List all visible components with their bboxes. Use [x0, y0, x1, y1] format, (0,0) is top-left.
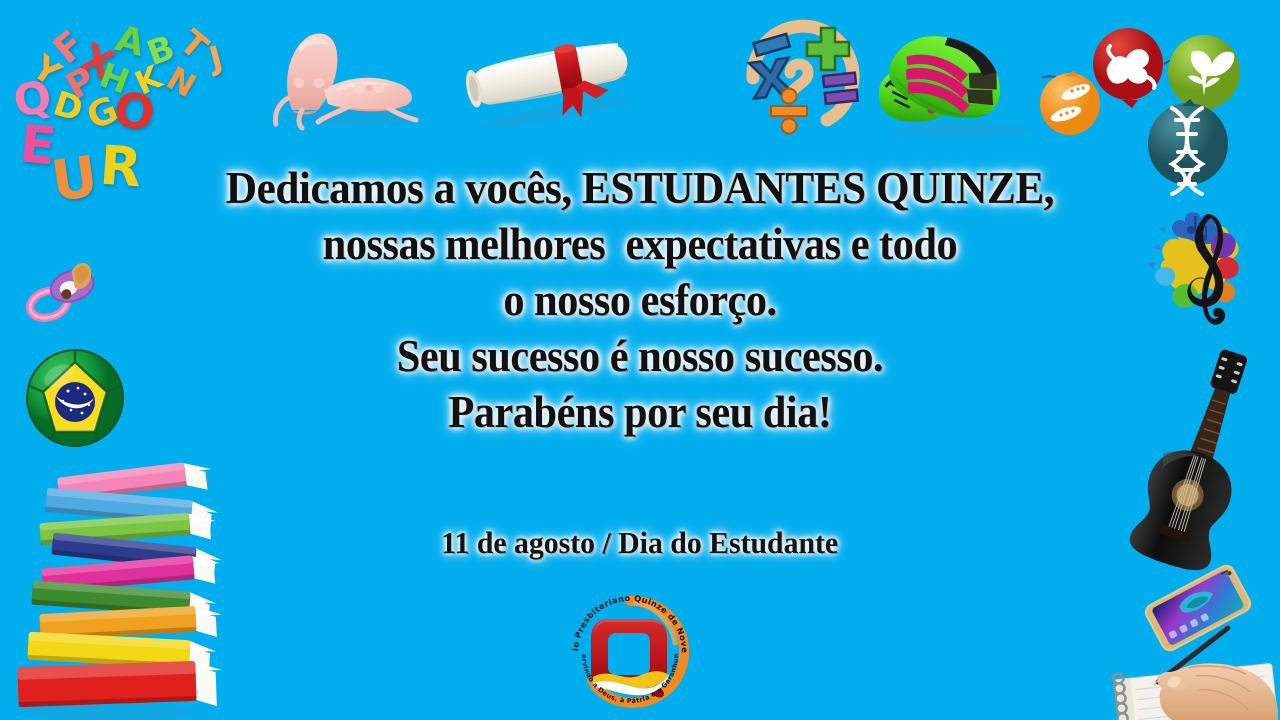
book-stack-icon	[10, 462, 235, 720]
poster-canvas: FXABTJYPHKNQDGOEUR	[0, 0, 1280, 720]
message-line-3: o nosso esforço.	[38, 272, 1241, 328]
message-line-2: nossas melhores expectativas e todo	[38, 216, 1241, 272]
subtitle-container: 11 de agosto / Dia do Estudante	[0, 525, 1280, 561]
student-day-date: 11 de agosto / Dia do Estudante	[442, 525, 839, 561]
alphabet-letter: A	[112, 21, 148, 63]
diploma-scroll-icon	[455, 25, 645, 130]
message-line-5: Parabéns por seu dia!	[38, 384, 1241, 440]
school-logo: Colégio Presbiteriano Quinze de Novembro…	[561, 583, 699, 720]
soccer-cleats-icon	[872, 12, 1052, 142]
writing-hand-notebook-icon	[1110, 618, 1280, 720]
message-line-1: Dedicamos a vocês, ESTUDANTES QUINZE,	[38, 160, 1241, 216]
math-symbols-icon	[735, 18, 870, 138]
book-stack-shadow	[24, 704, 196, 720]
alphabet-letter: O	[111, 85, 158, 138]
main-message: Dedicamos a vocês, ESTUDANTES QUINZE, no…	[0, 160, 1280, 440]
alphabet-letter: J	[206, 41, 226, 75]
ballet-shoes-icon	[258, 18, 438, 128]
message-line-4: Seu sucesso é nosso sucesso.	[38, 328, 1241, 384]
